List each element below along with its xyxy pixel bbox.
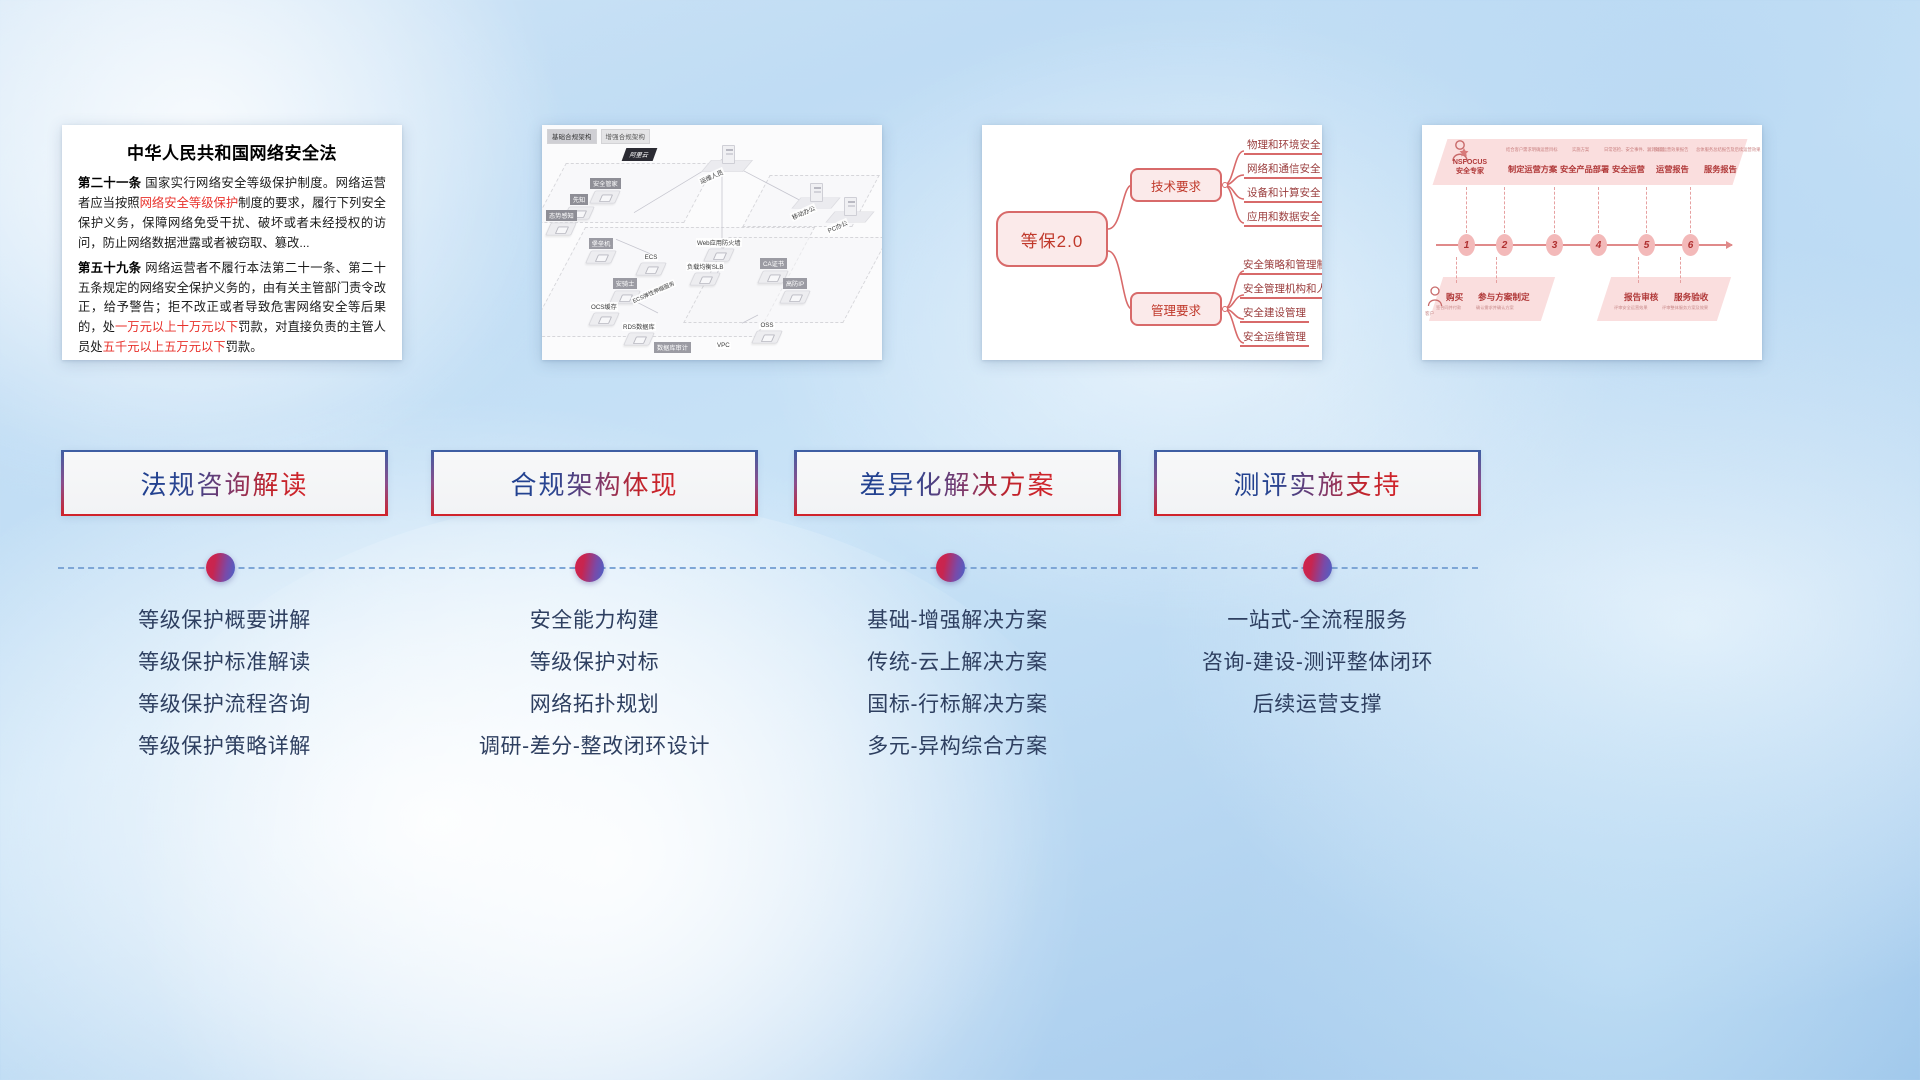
- list-item: 传统-云上解决方案: [795, 642, 1120, 684]
- customer-label: 客户: [1425, 311, 1434, 317]
- expert-label-role: 安全专家: [1446, 168, 1494, 177]
- timeline-stem-3: [1554, 187, 1555, 233]
- section-title-1: 法规咨询解读: [140, 465, 308, 502]
- list-item: 调研-差分-整改闭环设计: [432, 726, 757, 768]
- timeline-main-3: 安全产品部署: [1560, 163, 1609, 175]
- arch-node-vpc: VPC: [716, 341, 731, 349]
- mindmap-leaf-network-comm: 网络和通信安全: [1244, 161, 1322, 179]
- arch-node-slb: 负载均衡SLB: [686, 261, 724, 287]
- mindmap: 等保2.0 技术要求 物理和环境安全 网络和通信安全 设备和计算安全 应用和数据…: [982, 125, 1322, 360]
- law-title: 中华人民共和国网络安全法: [78, 139, 386, 164]
- architecture-canvas: 阿里云 安全管家 先知 态势感知 堡垒机 ECS 安骑士: [546, 141, 878, 356]
- arch-server-mobile: [810, 183, 823, 202]
- list-item: 多元-异构综合方案: [795, 726, 1120, 768]
- service-timeline: NSFOCUS 安全专家 结合客户需求明确运营目标 制定运营方案 实施方案 安全…: [1422, 125, 1762, 360]
- mindmap-leaf-physical-env: 物理和环境安全: [1244, 137, 1322, 155]
- arch-node-db-audit: 数据库审计: [654, 341, 691, 353]
- timeline-stem-b2: [1496, 257, 1497, 283]
- section-title-box-4[interactable]: 测评实施支持: [1155, 450, 1480, 516]
- mindmap-leaf-org-personnel: 安全管理机构和人员: [1240, 281, 1322, 299]
- timeline-stem-1: [1466, 187, 1467, 233]
- section-list-2: 安全能力构建 等级保护对标 网络拓扑规划 调研-差分-整改闭环设计: [432, 600, 757, 768]
- timeline-main-4: 安全运营: [1612, 163, 1645, 175]
- section-title-4: 测评实施支持: [1233, 465, 1401, 502]
- mindmap-leaf-construction-mgmt: 安全建设管理: [1240, 305, 1309, 323]
- list-item: 等级保护流程咨询: [62, 684, 387, 726]
- mindmap-root: 等保2.0: [996, 211, 1108, 267]
- list-item: 等级保护概要讲解: [62, 600, 387, 642]
- list-item: 国标-行标解决方案: [795, 684, 1120, 726]
- section-title-box-2[interactable]: 合规架构体现: [432, 450, 757, 516]
- timeline-bottom-main-1: 购买: [1446, 291, 1463, 303]
- mindmap-dot-technical: [1222, 182, 1228, 188]
- law-article-59-label: 第五十九条: [78, 261, 141, 275]
- list-item: 一站式-全流程服务: [1155, 600, 1480, 642]
- law-article-59-text-c: 罚款。: [226, 340, 263, 354]
- timeline-main-2: 制定运营方案: [1508, 163, 1557, 175]
- cards-row: 中华人民共和国网络安全法 第二十一条 国家实行网络安全等级保护制度。网络运营者应…: [0, 0, 1920, 440]
- timeline-sub-5: 阶段运营效果报告: [1654, 147, 1688, 153]
- expert-label: NSFOCUS 安全专家: [1446, 159, 1494, 177]
- mindmap-branch-technical: 技术要求: [1130, 168, 1222, 202]
- card-mindmap-dengbao: 等保2.0 技术要求 物理和环境安全 网络和通信安全 设备和计算安全 应用和数据…: [982, 125, 1322, 360]
- background-glow-bottom-left: [60, 500, 1160, 1080]
- arch-node-anti-ddos-ip: 高防IP: [782, 277, 808, 305]
- arch-node-situational-awareness: 态势感知: [546, 209, 577, 237]
- timeline-bottom-main-2: 参与方案制定: [1478, 291, 1530, 303]
- list-item: 后续运营支撑: [1155, 684, 1480, 726]
- section-title-2: 合规架构体现: [510, 465, 678, 502]
- arch-node-ops-staff: 运维人员: [698, 171, 725, 181]
- law-article-59-highlight-a: 一万元以上十万元以下: [115, 320, 238, 334]
- card-service-timeline: NSFOCUS 安全专家 结合客户需求明确运营目标 制定运营方案 实施方案 安全…: [1422, 125, 1762, 360]
- section-list-1: 等级保护概要讲解 等级保护标准解读 等级保护流程咨询 等级保护策略详解: [62, 600, 387, 768]
- expert-label-brand: NSFOCUS: [1446, 159, 1494, 168]
- arch-node-rds-database: RDS数据库: [622, 321, 656, 347]
- arch-node-ecs: ECS: [638, 253, 664, 277]
- mindmap-branch-management: 管理要求: [1130, 292, 1222, 326]
- timeline-band-bottom-right: [1597, 277, 1731, 321]
- timeline-dashed-line: [58, 567, 1478, 569]
- mindmap-leaf-device-compute: 设备和计算安全: [1244, 185, 1322, 203]
- timeline-marker-2[interactable]: [575, 553, 604, 582]
- mindmap-leaf-policy-system: 安全策略和管理制度: [1240, 257, 1322, 275]
- law-article-21-highlight: 网络安全等级保护: [140, 196, 239, 210]
- section-title-box-1[interactable]: 法规咨询解读: [62, 450, 387, 516]
- law-article-21-label: 第二十一条: [78, 176, 141, 190]
- timeline-stem-b3: [1638, 257, 1639, 283]
- list-item: 等级保护标准解读: [62, 642, 387, 684]
- timeline-marker-1[interactable]: [206, 553, 235, 582]
- timeline-bottom-sub-4: 评审整体服务方案及效果: [1662, 305, 1708, 311]
- timeline-marker-4[interactable]: [1303, 553, 1332, 582]
- list-item: 网络拓扑规划: [432, 684, 757, 726]
- section-list-4: 一站式-全流程服务 咨询-建设-测评整体闭环 后续运营支撑: [1155, 600, 1480, 726]
- arch-node-alicloud: 阿里云: [624, 147, 655, 161]
- timeline-node-3: 3: [1546, 234, 1563, 256]
- section-list-3: 基础-增强解决方案 传统-云上解决方案 国标-行标解决方案 多元-异构综合方案: [795, 600, 1120, 768]
- timeline-stem-5: [1646, 187, 1647, 233]
- list-item: 咨询-建设-测评整体闭环: [1155, 642, 1480, 684]
- timeline-stem-b4: [1680, 257, 1681, 283]
- arch-node-mobile-office: 移动办公: [790, 207, 817, 217]
- section-title-box-3[interactable]: 差异化解决方案: [795, 450, 1120, 516]
- timeline-sub-2: 结合客户需求明确运营目标: [1506, 147, 1558, 153]
- list-item: 基础-增强解决方案: [795, 600, 1120, 642]
- timeline-bottom-main-4: 服务验收: [1674, 291, 1708, 303]
- timeline-bottom-main-3: 报告审核: [1624, 291, 1658, 303]
- law-article-59-highlight-b: 五千元以上五万元以下: [103, 340, 226, 354]
- arch-node-waf: Web应用防火墙: [696, 237, 742, 263]
- architecture-diagram: 基础合规架构 增强合规架构: [542, 125, 882, 360]
- law-article-59: 第五十九条 网络运营者不履行本法第二十一条、第二十五条规定的网络安全保护义务的，…: [78, 259, 386, 359]
- timeline-stem-6: [1690, 187, 1691, 233]
- card-cloud-architecture: 基础合规架构 增强合规架构: [542, 125, 882, 360]
- arch-node-bastion-host: 堡垒机: [588, 237, 614, 265]
- law-article-21: 第二十一条 国家实行网络安全等级保护制度。网络运营者应当按照网络安全等级保护制度…: [78, 174, 386, 254]
- timeline-bottom-sub-2: 确认需求并确认方案: [1476, 305, 1514, 311]
- timeline-stem-2: [1504, 187, 1505, 233]
- timeline-sub-3: 实施方案: [1572, 147, 1589, 153]
- timeline-node-5: 5: [1638, 234, 1655, 256]
- arch-server-pc: [844, 197, 857, 216]
- arch-node-oss: OSS: [754, 321, 780, 345]
- timeline-stem-b1: [1456, 257, 1457, 283]
- section-title-3: 差异化解决方案: [859, 465, 1055, 502]
- arch-node-ecs-autoscaling: ECS弹性伸缩服务: [630, 287, 677, 296]
- timeline-node-1: 1: [1458, 234, 1475, 256]
- timeline-main-5: 运营报告: [1656, 163, 1689, 175]
- timeline-node-4: 4: [1590, 234, 1607, 256]
- arch-node-ocs-cache: OCS缓存: [590, 301, 618, 327]
- arch-server-ops: [722, 145, 735, 164]
- timeline-sub-6: 总体服务总结报告及后续运营效果: [1696, 147, 1760, 153]
- timeline-marker-3[interactable]: [936, 553, 965, 582]
- card-cybersecurity-law: 中华人民共和国网络安全法 第二十一条 国家实行网络安全等级保护制度。网络运营者应…: [62, 125, 402, 360]
- timeline-bottom-sub-1: 签合同并付款: [1436, 305, 1461, 311]
- timeline-node-2: 2: [1496, 234, 1513, 256]
- arch-node-pc-office: PC办公: [826, 221, 849, 231]
- timeline-main-6: 服务报告: [1704, 163, 1737, 175]
- arch-node-security-steward: 安全管家: [590, 177, 621, 205]
- timeline-node-6: 6: [1682, 234, 1699, 256]
- mindmap-leaf-app-data: 应用和数据安全: [1244, 209, 1322, 227]
- mindmap-dot-management: [1222, 306, 1228, 312]
- timeline-stem-4: [1598, 187, 1599, 233]
- list-item: 等级保护策略详解: [62, 726, 387, 768]
- list-item: 安全能力构建: [432, 600, 757, 642]
- list-item: 等级保护对标: [432, 642, 757, 684]
- timeline-bottom-sub-3: 评审安全运营效果: [1614, 305, 1648, 311]
- mindmap-leaf-ops-mgmt: 安全运维管理: [1240, 329, 1309, 347]
